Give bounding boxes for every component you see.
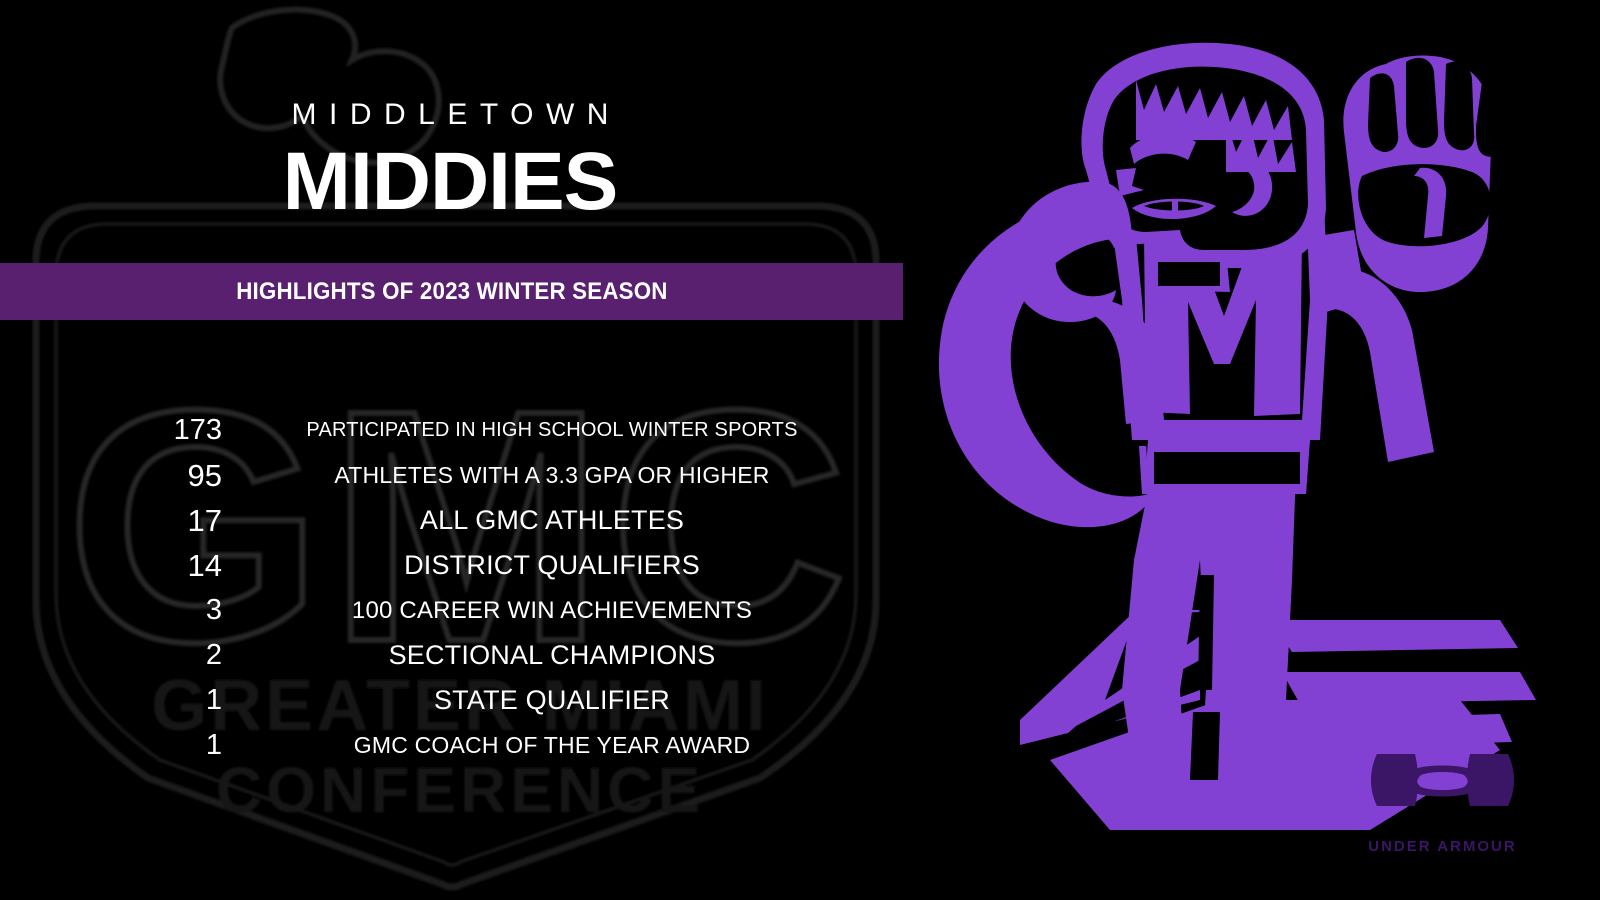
stat-row: 17 ALL GMC ATHLETES <box>0 498 900 543</box>
stat-number: 1 <box>0 684 222 717</box>
stat-label: GMC COACH OF THE YEAR AWARD <box>222 732 900 759</box>
stat-number: 1 <box>0 729 222 762</box>
stat-label: PARTICIPATED IN HIGH SCHOOL WINTER SPORT… <box>222 419 900 442</box>
stat-row: 3 100 CAREER WIN ACHIEVEMENTS <box>0 588 900 633</box>
under-armour-icon <box>1355 740 1530 840</box>
stat-number: 95 <box>0 458 222 494</box>
stat-row: 1 GMC COACH OF THE YEAR AWARD <box>0 723 900 768</box>
highlights-banner: HIGHLIGHTS OF 2023 WINTER SEASON <box>0 263 903 320</box>
stat-row: 14 DISTRICT QUALIFIERS <box>0 543 900 588</box>
stats-list: 173 PARTICIPATED IN HIGH SCHOOL WINTER S… <box>0 408 900 768</box>
sponsor-lockup: UNDER ARMOUR <box>1355 740 1530 865</box>
stat-label: SECTIONAL CHAMPIONS <box>222 640 900 671</box>
stat-number: 173 <box>0 414 222 447</box>
sponsor-wordmark: UNDER ARMOUR <box>1355 838 1530 855</box>
stat-label: ATHLETES WITH A 3.3 GPA OR HIGHER <box>222 462 900 489</box>
stat-label: STATE QUALIFIER <box>222 685 900 716</box>
stat-number: 3 <box>0 594 222 627</box>
page-eyebrow: MIDDLETOWN <box>0 96 900 134</box>
middie-strongman-mascot <box>900 0 1540 860</box>
stat-row: 173 PARTICIPATED IN HIGH SCHOOL WINTER S… <box>0 408 900 453</box>
stat-label: 100 CAREER WIN ACHIEVEMENTS <box>222 597 900 625</box>
stat-label: ALL GMC ATHLETES <box>222 505 900 536</box>
stat-row: 2 SECTIONAL CHAMPIONS <box>0 633 900 678</box>
stat-row: 95 ATHLETES WITH A 3.3 GPA OR HIGHER <box>0 453 900 498</box>
banner-title: HIGHLIGHTS OF 2023 WINTER SEASON <box>236 278 667 306</box>
page-title: MIDDIES <box>0 136 900 228</box>
slide-canvas: GMC GREATER MIAMI CONFERENCE <box>0 0 1600 900</box>
stat-number: 17 <box>0 503 222 539</box>
stat-number: 14 <box>0 548 222 584</box>
stat-row: 1 STATE QUALIFIER <box>0 678 900 723</box>
stat-label: DISTRICT QUALIFIERS <box>222 550 900 581</box>
stat-number: 2 <box>0 639 222 672</box>
